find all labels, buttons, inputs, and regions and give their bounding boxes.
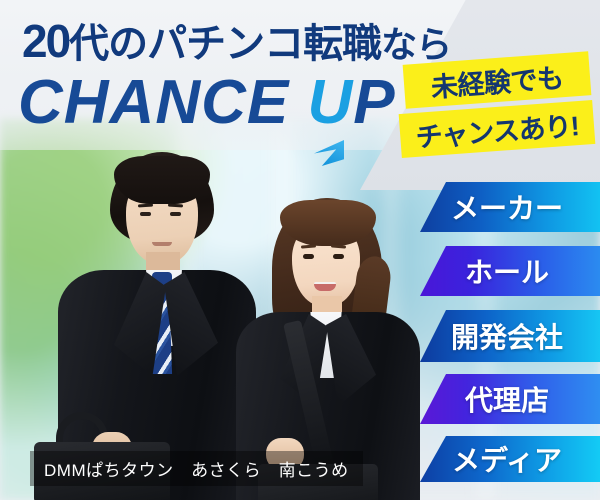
logo-letter-u: U [307, 68, 353, 137]
people-photo [0, 120, 420, 500]
logo-chance: CHANCE [18, 68, 289, 137]
man-eye-left [140, 212, 151, 216]
category-button-media[interactable]: メディア [420, 436, 600, 482]
category-button-developer[interactable]: 開発会社 [420, 310, 600, 362]
man-eye-right [170, 212, 181, 216]
category-label-maker: メーカー [451, 187, 569, 227]
ad-banner[interactable]: 20代のパチンコ転職なら CHANCE UP 未経験でも チャンスあり! メーカ… [0, 0, 600, 500]
woman-mouth [314, 282, 336, 291]
category-label-agency: 代理店 [465, 379, 555, 419]
category-label-developer: 開発会社 [451, 316, 569, 356]
category-button-hall[interactable]: ホール [420, 246, 600, 296]
headline-tail: なら [381, 24, 451, 65]
category-label-media: メディア [452, 439, 568, 479]
photo-credit-caption: DMMぱちタウン あさくら 南こうめ [30, 451, 363, 486]
woman-eye-right [333, 254, 344, 259]
woman-eye-left [303, 254, 314, 259]
headline-middle: 代のパチンコ転職 [69, 22, 381, 66]
headline-number: 20 [22, 15, 69, 67]
headline: 20代のパチンコ転職なら [22, 18, 451, 64]
logo-letter-p: P [353, 68, 395, 137]
man-fringe [114, 156, 210, 204]
category-button-agency[interactable]: 代理店 [420, 374, 600, 424]
category-button-maker[interactable]: メーカー [420, 182, 600, 232]
man-mouth [152, 242, 172, 246]
chance-up-logo: CHANCE UP [18, 72, 396, 134]
category-label-hall: ホール [465, 251, 555, 291]
